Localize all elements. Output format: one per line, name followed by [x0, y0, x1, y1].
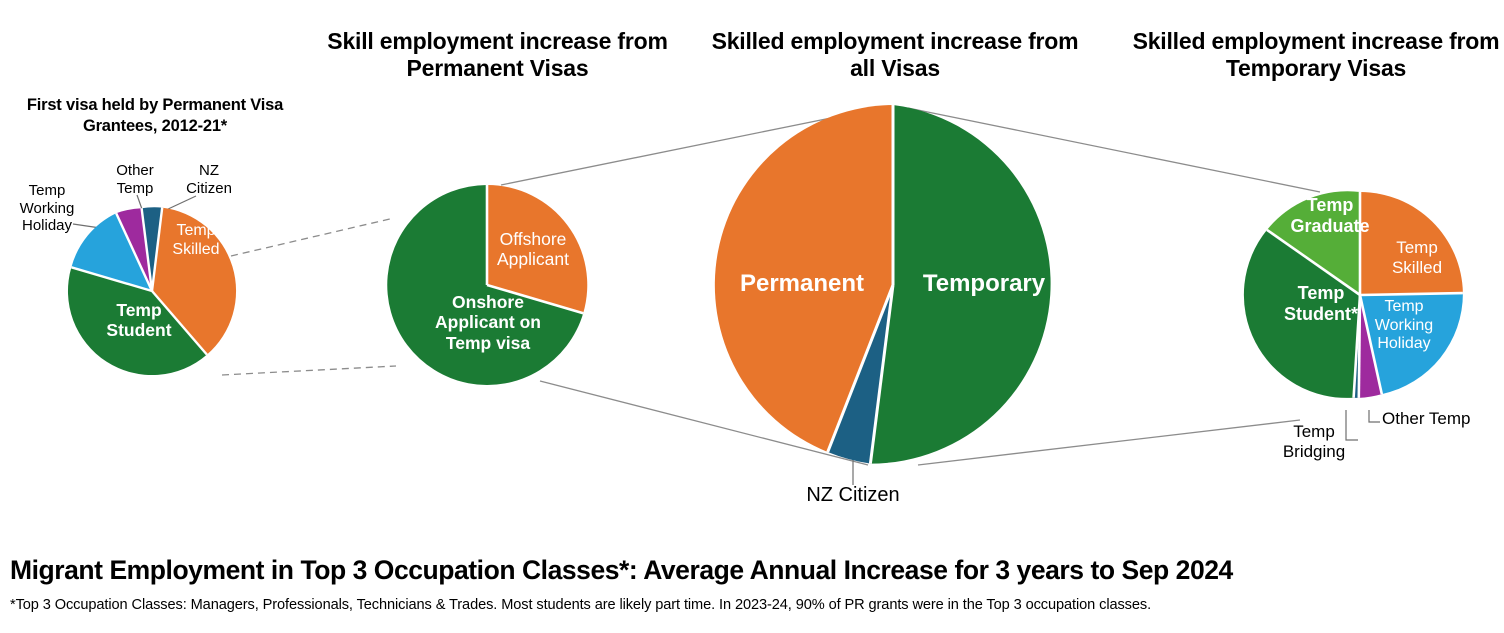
label-temp-bridging-p4: Temp Bridging: [1264, 422, 1364, 463]
pie-from-temporary-visas: [1244, 191, 1463, 398]
footer-note: *Top 3 Occupation Classes: Managers, Pro…: [10, 597, 1500, 613]
panel-title-from-permanent-visas: Skill employment increase from Permanent…: [325, 28, 670, 82]
connector-line-top: [231, 218, 394, 256]
leader-other-temp-right: [1369, 410, 1380, 422]
label-nz-citizen-p3: NZ Citizen: [753, 483, 953, 507]
footer-title: Migrant Employment in Top 3 Occupation C…: [10, 555, 1500, 586]
infographic-canvas: First visa held by Permanent Visa Grante…: [0, 0, 1504, 633]
label-nz-citizen-p1: NZ Citizen: [178, 162, 240, 197]
leader-nz-citizen: [166, 196, 196, 210]
slice-temporary: [870, 105, 1050, 464]
panel-title-from-temporary-visas: Skilled employment increase from Tempora…: [1130, 28, 1502, 82]
panel-title-from-all-visas: Skilled employment increase from all Vis…: [700, 28, 1090, 82]
pie-from-all-visas: [715, 105, 1051, 464]
pie-from-permanent-visas: [387, 185, 587, 385]
panel-title-first-visa-held: First visa held by Permanent Visa Grante…: [10, 95, 300, 136]
connector-line-bottom: [222, 366, 396, 375]
connector-pie1-pie2: [222, 218, 396, 375]
label-other-temp-p4: Other Temp: [1382, 409, 1502, 429]
label-other-temp-p1: Other Temp: [104, 162, 166, 197]
slice-temp-skilled: [1360, 192, 1463, 295]
pie-first-visa-held: [68, 207, 236, 375]
label-temp-working-holiday-p1: Temp Working Holiday: [8, 182, 86, 235]
